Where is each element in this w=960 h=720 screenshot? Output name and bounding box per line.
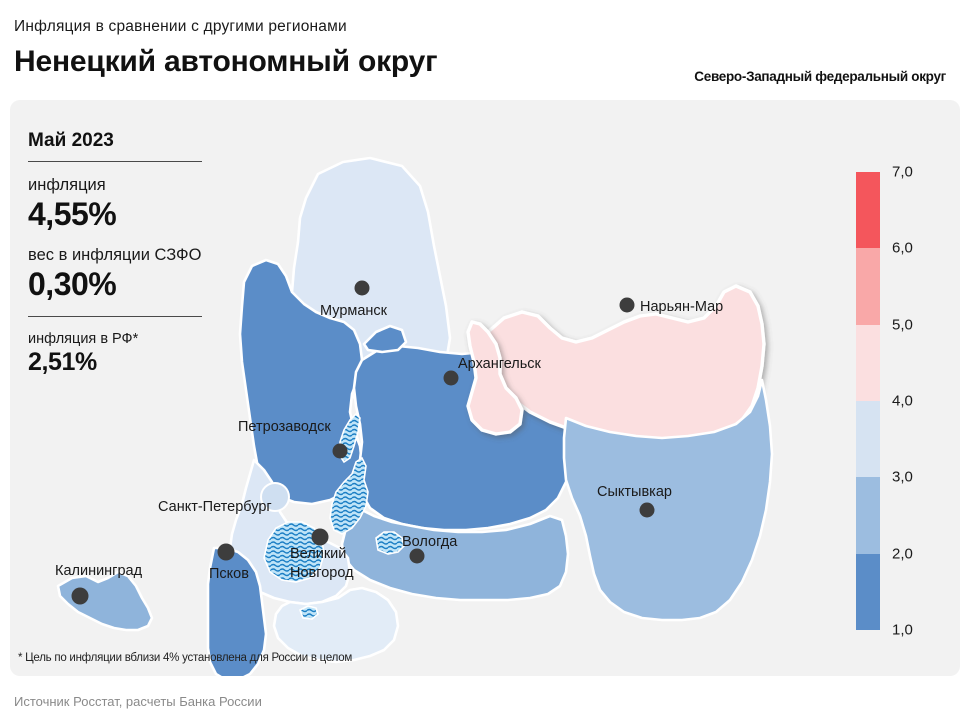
- city-dot: [355, 281, 370, 296]
- city-dot: [72, 588, 89, 605]
- city-dot: [333, 444, 348, 459]
- rf-inflation-label: инфляция в РФ*: [28, 331, 238, 347]
- legend-band-1: [856, 248, 880, 324]
- legend-band-5: [856, 554, 880, 630]
- legend-tick-2-0: 2,0: [892, 545, 913, 562]
- legend-tick-6-0: 6,0: [892, 240, 913, 257]
- inflation-value: 4,55%: [28, 197, 238, 233]
- stats-divider-top: [28, 161, 202, 162]
- city-label-syktyvkar: Сыктывкар: [597, 484, 672, 500]
- city-label-pskov: Псков: [209, 566, 249, 582]
- city-label-murmansk: Мурманск: [320, 303, 388, 319]
- city-dot: [410, 549, 425, 564]
- city-dot: [312, 529, 329, 546]
- city-label-saint-petersburg: Санкт-Петербург: [158, 499, 272, 515]
- legend-band-0: [856, 172, 880, 248]
- city-dot: [218, 544, 235, 561]
- legend-band-2: [856, 325, 880, 401]
- legend-tick-5-0: 5,0: [892, 316, 913, 333]
- city-label-petrozavodsk: Петрозаводск: [238, 419, 331, 435]
- rf-inflation-value: 2,51%: [28, 348, 238, 377]
- legend-band-4: [856, 477, 880, 553]
- legend-tick-1-0: 1,0: [892, 622, 913, 639]
- legend-band-3: [856, 401, 880, 477]
- page-title: Ненецкий автономный округ: [14, 45, 437, 79]
- federal-district-label: Северо-Западный федеральный округ: [694, 69, 946, 84]
- legend-tick-4-0: 4,0: [892, 393, 913, 410]
- legend-color-bar: [856, 172, 880, 630]
- region-kaliningrad[interactable]: [58, 572, 152, 630]
- header-kicker: Инфляция в сравнении с другими регионами: [14, 18, 347, 36]
- stats-divider-bottom: [28, 316, 202, 317]
- city-marker-naryan-mar[interactable]: Нарьян-Мар: [620, 298, 724, 316]
- city-dot: [640, 503, 655, 518]
- city-label-arkhangelsk: Архангельск: [458, 356, 542, 372]
- inflation-label: инфляция: [28, 176, 238, 195]
- city-label-veliky-novgorod-line2: Новгород: [290, 565, 354, 581]
- city-label-veliky-novgorod-line1: Великий: [290, 546, 346, 562]
- city-label-naryan-mar: Нарьян-Мар: [640, 299, 723, 315]
- city-label-kaliningrad: Калининград: [55, 563, 143, 579]
- city-label-vologda: Вологда: [402, 534, 458, 550]
- source-note: Источник Росстат, расчеты Банка России: [14, 694, 262, 709]
- city-dot: [444, 371, 459, 386]
- weight-value: 0,30%: [28, 267, 238, 303]
- stats-month: Май 2023: [28, 130, 238, 152]
- city-dot: [620, 298, 635, 313]
- weight-label: вес в инфляции СЗФО: [28, 246, 238, 265]
- stats-panel: Май 2023 инфляция 4,55% вес в инфляции С…: [28, 130, 238, 377]
- legend-tick-3-0: 3,0: [892, 469, 913, 486]
- legend-tick-7-0: 7,0: [892, 164, 913, 181]
- lake-ilmen: [300, 606, 318, 619]
- city-marker-saint-petersburg[interactable]: Санкт-Петербург: [158, 483, 289, 515]
- footnote: * Цель по инфляции вблизи 4% установлена…: [18, 652, 352, 664]
- color-scale-legend: 7,06,05,04,03,02,01,0: [856, 172, 952, 632]
